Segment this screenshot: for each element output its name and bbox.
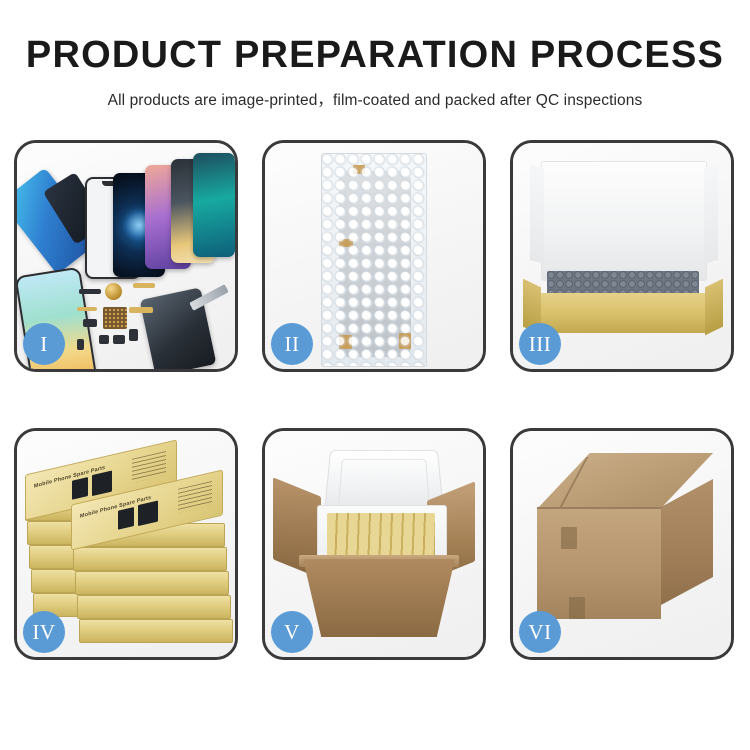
flex-cable-b (129, 307, 153, 313)
small-chip-d (113, 335, 125, 344)
panel-1-image: I (17, 143, 235, 369)
process-panel-3[interactable]: III (510, 140, 734, 372)
process-panel-grid: I II III (14, 140, 736, 660)
page-header: PRODUCT PREPARATION PROCESS All products… (0, 0, 750, 110)
panel-5-image: V (265, 431, 483, 657)
panel-2-image: II (265, 143, 483, 369)
stacked-box-9 (77, 595, 231, 619)
panel-1-badge: I (23, 323, 65, 365)
panel-3-image: III (513, 143, 731, 369)
panel-6-image: VI (513, 431, 731, 657)
carton-seam-front (537, 507, 661, 509)
stacked-box-8 (75, 571, 229, 595)
carton-tab-upper (561, 527, 577, 549)
process-panel-2[interactable]: II (262, 140, 486, 372)
vibration-motor-part (105, 283, 122, 300)
small-chip-f (77, 339, 84, 350)
tape-piece-top (353, 165, 365, 174)
page-subtitle: All products are image-printed，film-coat… (0, 88, 750, 110)
carton-body (303, 559, 455, 637)
tape-piece-bottom-left (339, 335, 352, 349)
tape-piece-bottom-right (399, 333, 411, 349)
tape-piece-mid (339, 239, 353, 247)
process-panel-5[interactable]: V (262, 428, 486, 660)
process-panel-6[interactable]: VI (510, 428, 734, 660)
small-chip-b (83, 319, 97, 327)
panel-6-badge: VI (519, 611, 561, 653)
inner-kraft-boxes (327, 513, 435, 559)
process-panel-4[interactable]: Mobile Phone Spare Parts Mobile Phone Sp… (14, 428, 238, 660)
small-chip-a (79, 289, 101, 294)
stacked-box-10 (79, 619, 233, 643)
box-spec-text-rear (132, 451, 166, 483)
small-chip-e (129, 329, 138, 341)
box-window-rear-b (92, 470, 112, 496)
carton-tab-lower (569, 597, 585, 619)
box-window-front-a (118, 507, 134, 530)
bubble-wrap-sheet (321, 153, 427, 367)
page-title: PRODUCT PREPARATION PROCESS (0, 36, 750, 76)
ic-chip-grid (103, 307, 127, 329)
process-panel-1[interactable]: I (14, 140, 238, 372)
carton-front-face (537, 507, 661, 619)
panel-2-badge: II (271, 323, 313, 365)
panel-3-badge: III (519, 323, 561, 365)
panel-5-badge: V (271, 611, 313, 653)
white-box-lid (541, 161, 707, 281)
box-window-front-b (138, 500, 158, 526)
stacked-box-7 (73, 547, 227, 571)
panel-4-image: Mobile Phone Spare Parts Mobile Phone Sp… (17, 431, 235, 657)
flex-cable-c (77, 307, 97, 311)
kraft-box-tray (537, 293, 709, 333)
teal-gradient-phone (193, 153, 235, 257)
box-window-rear-a (72, 477, 88, 500)
panel-4-badge: IV (23, 611, 65, 653)
flex-cable-a (133, 283, 155, 288)
box-spec-text-front (178, 481, 212, 513)
small-chip-c (99, 335, 109, 344)
